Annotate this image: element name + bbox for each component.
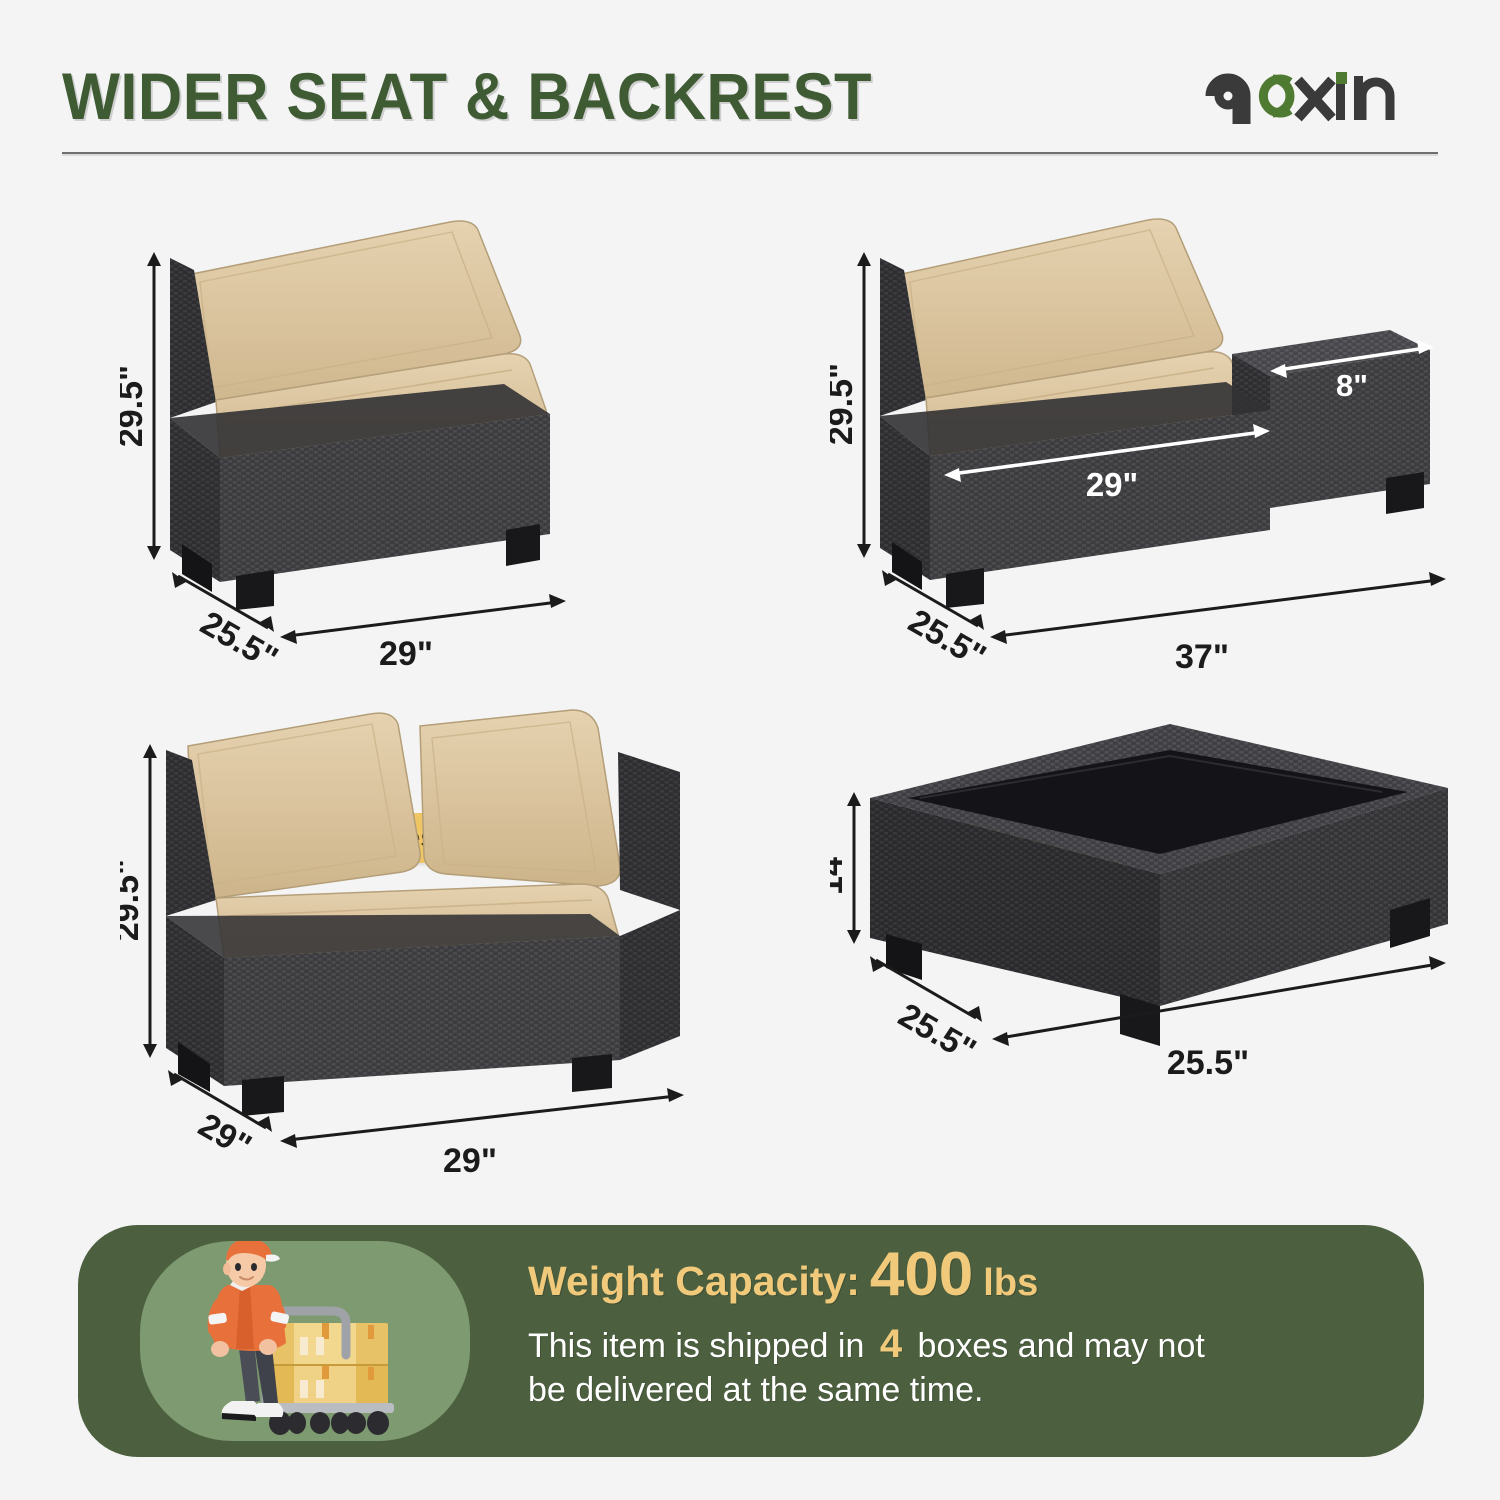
banner-text-block: Weight Capacity: 400 lbs This item is sh… [528, 1247, 1398, 1412]
shipping-note: This item is shipped in 4 boxes and may … [528, 1319, 1398, 1412]
dim-table-height: 14" [830, 841, 850, 895]
product-armrest-sofa: 29.5" 25.5" 37" 29" [830, 178, 1470, 698]
shipping-prefix: This item is shipped in [528, 1327, 864, 1365]
dim-armrest-depth: 25.5" [902, 602, 992, 676]
brand-logo [1202, 62, 1432, 124]
weight-capacity-label: Weight Capacity: [528, 1258, 860, 1305]
dim-armrest-width: 37" [1175, 638, 1229, 676]
weight-capacity-unit: lbs [983, 1262, 1038, 1305]
product-coffee-table: 14" 25.5" 25.5" [830, 688, 1470, 1198]
shipping-banner: Weight Capacity: 400 lbs This item is sh… [78, 1225, 1424, 1457]
header-divider [62, 152, 1438, 154]
armless-sofa-illustration: 29.5" 25.5" 29" [120, 178, 740, 698]
weight-capacity-value: 400 [870, 1247, 973, 1303]
product-grid: 29.5" 25.5" 29" 4 × Armless Sofa [0, 168, 1500, 1208]
shipping-line2: be delivered at the same time. [528, 1371, 983, 1409]
weight-capacity-line: Weight Capacity: 400 lbs [528, 1247, 1398, 1305]
coffee-table-illustration: 14" 25.5" 25.5" [830, 688, 1470, 1198]
page-title: WIDER SEAT & BACKREST [62, 58, 872, 134]
dim-armrest-seat-width: 29" [1086, 466, 1138, 503]
dim-armrest-height: 29.5" [830, 363, 860, 445]
dim-corner-height: 29.5" [120, 859, 146, 941]
shipping-box-count: 4 [874, 1322, 908, 1366]
dim-armless-height: 29.5" [120, 365, 150, 447]
infographic-page: WIDER SEAT & BACKREST [0, 0, 1500, 1500]
dim-armrest-arm-width: 8" [1336, 368, 1368, 403]
product-corner-sofa: 29.5" 29" 29" [120, 688, 740, 1198]
dim-table-width: 25.5" [1167, 1044, 1249, 1082]
dim-armless-width: 29" [379, 635, 433, 673]
armrest-sofa-illustration: 29.5" 25.5" 37" 29" [830, 178, 1470, 698]
product-armless-sofa: 29.5" 25.5" 29" [120, 178, 740, 698]
shipping-suffix: boxes and may not [918, 1327, 1205, 1365]
dim-table-depth: 25.5" [892, 996, 982, 1070]
delivery-illustration [140, 1241, 470, 1441]
dim-corner-width: 29" [443, 1142, 497, 1180]
dim-armless-depth: 25.5" [194, 604, 284, 678]
header: WIDER SEAT & BACKREST [0, 0, 1500, 165]
corner-sofa-illustration: 29.5" 29" 29" [120, 688, 740, 1198]
